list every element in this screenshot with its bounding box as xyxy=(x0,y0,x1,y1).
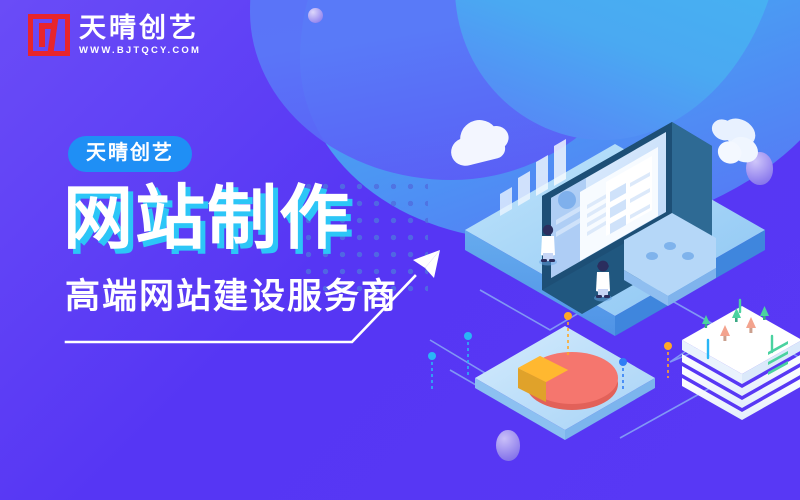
pie-chart-panel xyxy=(475,326,672,440)
brand-badge: 天晴创艺 xyxy=(68,136,192,172)
server-stack-icon xyxy=(682,300,800,420)
sphere-purple-small xyxy=(308,8,323,23)
logo-mark-icon xyxy=(28,14,70,56)
banner-canvas: 天晴创艺 WWW.BJTQCY.COM 天晴创艺 网站制作 高端网站建设服务商 xyxy=(0,0,800,500)
logo-website-url: WWW.BJTQCY.COM xyxy=(79,45,201,56)
logo-name: 天晴创艺 xyxy=(79,14,201,42)
isometric-website-platform xyxy=(420,40,800,480)
brand-logo: 天晴创艺 WWW.BJTQCY.COM xyxy=(28,14,201,56)
